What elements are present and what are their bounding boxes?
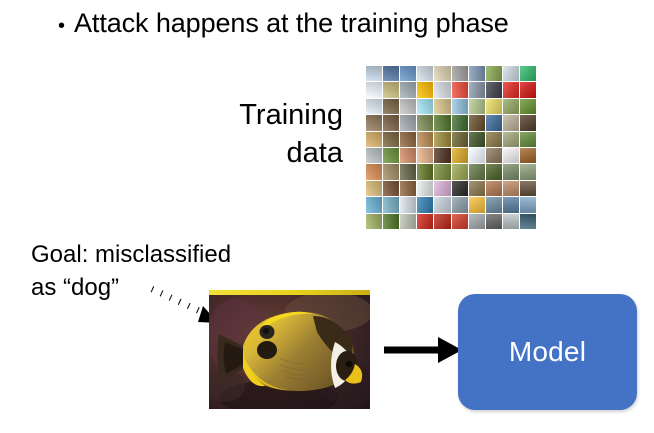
training-thumbnail: [486, 82, 502, 97]
training-thumbnail: [452, 214, 468, 229]
training-thumbnail: [469, 99, 485, 114]
training-thumbnail: [452, 181, 468, 196]
training-thumbnail: [469, 82, 485, 97]
training-thumbnail: [383, 181, 399, 196]
model-box-label: Model: [509, 336, 586, 368]
training-thumbnail: [520, 148, 536, 163]
training-thumbnail: [434, 164, 450, 179]
training-thumbnail: [469, 132, 485, 147]
training-thumbnail: [366, 132, 382, 147]
training-thumbnail: [400, 82, 416, 97]
training-thumbnail: [486, 214, 502, 229]
training-thumbnail: [400, 115, 416, 130]
training-thumbnail: [520, 197, 536, 212]
training-thumbnail: [452, 164, 468, 179]
training-data-image-grid: [366, 66, 536, 229]
training-thumbnail: [503, 181, 519, 196]
training-thumbnail: [366, 197, 382, 212]
training-thumbnail: [503, 197, 519, 212]
training-thumbnail: [400, 148, 416, 163]
training-thumbnail: [520, 115, 536, 130]
training-thumbnail: [503, 164, 519, 179]
training-thumbnail: [417, 214, 433, 229]
training-thumbnail: [434, 214, 450, 229]
training-thumbnail: [417, 115, 433, 130]
training-thumbnail: [383, 197, 399, 212]
training-thumbnail: [486, 66, 502, 81]
training-thumbnail: [434, 99, 450, 114]
training-thumbnail: [434, 66, 450, 81]
training-thumbnail: [383, 132, 399, 147]
training-thumbnail: [469, 115, 485, 130]
training-thumbnail: [417, 99, 433, 114]
training-thumbnail: [417, 66, 433, 81]
training-thumbnail: [503, 99, 519, 114]
training-thumbnail: [400, 99, 416, 114]
model-box[interactable]: Model: [458, 294, 637, 410]
training-thumbnail: [520, 66, 536, 81]
training-thumbnail: [469, 197, 485, 212]
training-thumbnail: [400, 132, 416, 147]
training-thumbnail: [366, 115, 382, 130]
training-thumbnail: [434, 132, 450, 147]
training-thumbnail: [417, 82, 433, 97]
training-thumbnail: [383, 164, 399, 179]
training-thumbnail: [452, 82, 468, 97]
training-thumbnail: [452, 132, 468, 147]
training-thumbnail: [486, 181, 502, 196]
solid-arrow-icon: [382, 332, 464, 368]
training-thumbnail: [434, 197, 450, 212]
training-thumbnail: [503, 132, 519, 147]
training-thumbnail: [366, 99, 382, 114]
training-data-label-line1: Training: [155, 96, 343, 134]
training-thumbnail: [400, 214, 416, 229]
training-data-label-line2: data: [155, 134, 343, 172]
training-thumbnail: [520, 82, 536, 97]
training-thumbnail: [417, 181, 433, 196]
training-thumbnail: [434, 82, 450, 97]
training-thumbnail: [469, 148, 485, 163]
training-thumbnail: [366, 181, 382, 196]
training-thumbnail: [400, 164, 416, 179]
page-title-text: Attack happens at the training phase: [74, 6, 509, 40]
training-thumbnail: [503, 66, 519, 81]
training-thumbnail: [434, 148, 450, 163]
training-thumbnail: [486, 197, 502, 212]
training-thumbnail: [486, 132, 502, 147]
training-thumbnail: [469, 164, 485, 179]
training-thumbnail: [520, 99, 536, 114]
training-thumbnail: [434, 181, 450, 196]
training-thumbnail: [366, 66, 382, 81]
training-thumbnail: [383, 82, 399, 97]
training-thumbnail: [400, 197, 416, 212]
training-thumbnail: [366, 148, 382, 163]
training-thumbnail: [383, 148, 399, 163]
training-thumbnail: [383, 66, 399, 81]
training-thumbnail: [520, 132, 536, 147]
training-thumbnail: [503, 115, 519, 130]
training-thumbnail: [452, 115, 468, 130]
training-thumbnail: [417, 164, 433, 179]
page-title: • Attack happens at the training phase: [58, 6, 509, 40]
training-thumbnail: [417, 132, 433, 147]
goal-caption-line1: Goal: misclassified: [31, 238, 281, 271]
training-thumbnail: [520, 214, 536, 229]
training-thumbnail: [452, 148, 468, 163]
training-thumbnail: [383, 115, 399, 130]
training-thumbnail: [486, 99, 502, 114]
poisoned-fish-image: [209, 290, 370, 409]
training-thumbnail: [383, 99, 399, 114]
training-data-label: Training data: [155, 96, 343, 172]
training-thumbnail: [400, 66, 416, 81]
training-thumbnail: [503, 214, 519, 229]
training-thumbnail: [469, 66, 485, 81]
training-thumbnail: [469, 181, 485, 196]
training-thumbnail: [520, 164, 536, 179]
slide-canvas: • Attack happens at the training phase T…: [0, 0, 654, 433]
training-thumbnail: [486, 115, 502, 130]
training-thumbnail: [520, 181, 536, 196]
training-thumbnail: [452, 197, 468, 212]
training-thumbnail: [366, 214, 382, 229]
training-thumbnail: [417, 197, 433, 212]
training-thumbnail: [400, 181, 416, 196]
training-thumbnail: [434, 115, 450, 130]
training-thumbnail: [469, 214, 485, 229]
training-thumbnail: [366, 82, 382, 97]
training-thumbnail: [366, 164, 382, 179]
training-thumbnail: [417, 148, 433, 163]
training-thumbnail: [452, 66, 468, 81]
training-thumbnail: [452, 99, 468, 114]
training-thumbnail: [486, 148, 502, 163]
training-thumbnail: [503, 148, 519, 163]
training-thumbnail: [486, 164, 502, 179]
training-thumbnail: [383, 214, 399, 229]
training-thumbnail: [503, 82, 519, 97]
bullet-icon: •: [58, 16, 65, 36]
